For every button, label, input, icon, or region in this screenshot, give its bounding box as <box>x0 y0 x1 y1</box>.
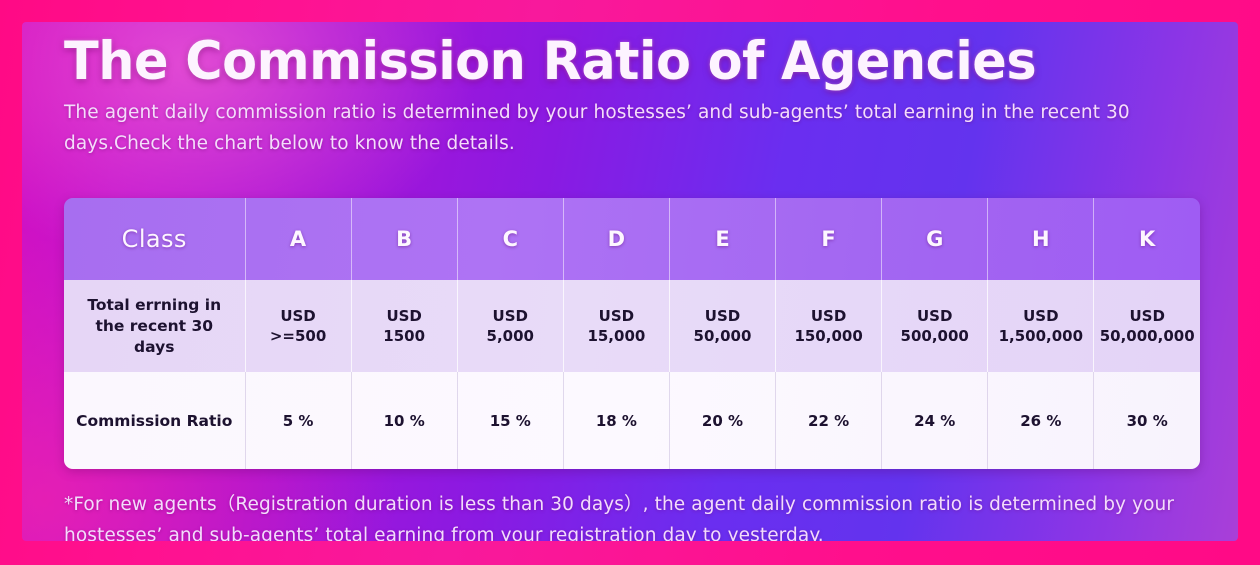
earning-amount-g: 500,000 <box>883 326 986 346</box>
table-body: Total errning in the recent 30 days USD … <box>64 280 1200 469</box>
page-subtitle: The agent daily commission ratio is dete… <box>64 97 1134 159</box>
ratio-cell-d: 18 % <box>563 372 669 469</box>
table-header: Class A B C D E F G H K <box>64 198 1200 280</box>
gradient-panel: The Commission Ratio of Agencies The age… <box>22 22 1238 541</box>
table-row-total-earning: Total errning in the recent 30 days USD … <box>64 280 1200 372</box>
earning-cell-e: USD 50,000 <box>669 280 775 372</box>
header-class-k: K <box>1094 198 1200 280</box>
header-class-g: G <box>882 198 988 280</box>
page-title: The Commission Ratio of Agencies <box>64 30 1036 94</box>
header-class-d: D <box>563 198 669 280</box>
earning-amount-d: 15,000 <box>565 326 668 346</box>
earning-amount-b: 1500 <box>353 326 456 346</box>
commission-ratio-table: Class A B C D E F G H K Total errning in <box>64 198 1200 469</box>
earning-currency-k: USD <box>1095 306 1199 326</box>
footnote-text: *For new agents（Registration duration is… <box>64 489 1194 541</box>
header-class-c: C <box>457 198 563 280</box>
header-class-b: B <box>351 198 457 280</box>
commission-ratio-table-container: Class A B C D E F G H K Total errning in <box>64 198 1200 469</box>
earning-currency-a: USD <box>247 306 350 326</box>
pink-border-frame: The Commission Ratio of Agencies The age… <box>0 0 1260 565</box>
header-class-a: A <box>245 198 351 280</box>
ratio-cell-h: 26 % <box>988 372 1094 469</box>
earning-currency-h: USD <box>989 306 1092 326</box>
row-label-total-earning: Total errning in the recent 30 days <box>64 280 245 372</box>
earning-currency-e: USD <box>671 306 774 326</box>
ratio-cell-b: 10 % <box>351 372 457 469</box>
earning-currency-d: USD <box>565 306 668 326</box>
earning-currency-b: USD <box>353 306 456 326</box>
earning-cell-f: USD 150,000 <box>776 280 882 372</box>
earning-cell-h: USD 1,500,000 <box>988 280 1094 372</box>
ratio-cell-g: 24 % <box>882 372 988 469</box>
earning-amount-h: 1,500,000 <box>989 326 1092 346</box>
earning-cell-k: USD 50,000,000 <box>1094 280 1200 372</box>
earning-cell-d: USD 15,000 <box>563 280 669 372</box>
earning-amount-a: >=500 <box>247 326 350 346</box>
earning-cell-a: USD >=500 <box>245 280 351 372</box>
table-header-row: Class A B C D E F G H K <box>64 198 1200 280</box>
table-row-commission-ratio: Commission Ratio 5 % 10 % 15 % 18 % 20 %… <box>64 372 1200 469</box>
ratio-cell-e: 20 % <box>669 372 775 469</box>
earning-cell-c: USD 5,000 <box>457 280 563 372</box>
earning-amount-k: 50,000,000 <box>1095 326 1199 346</box>
header-class-f: F <box>776 198 882 280</box>
ratio-cell-c: 15 % <box>457 372 563 469</box>
earning-cell-b: USD 1500 <box>351 280 457 372</box>
ratio-cell-f: 22 % <box>776 372 882 469</box>
earning-cell-g: USD 500,000 <box>882 280 988 372</box>
earning-amount-f: 150,000 <box>777 326 880 346</box>
earning-currency-c: USD <box>459 306 562 326</box>
ratio-cell-k: 30 % <box>1094 372 1200 469</box>
header-class-h: H <box>988 198 1094 280</box>
ratio-cell-a: 5 % <box>245 372 351 469</box>
header-class-e: E <box>669 198 775 280</box>
earning-amount-c: 5,000 <box>459 326 562 346</box>
earning-amount-e: 50,000 <box>671 326 774 346</box>
header-class-label: Class <box>64 198 245 280</box>
earning-currency-g: USD <box>883 306 986 326</box>
row-label-commission-ratio: Commission Ratio <box>64 372 245 469</box>
earning-currency-f: USD <box>777 306 880 326</box>
